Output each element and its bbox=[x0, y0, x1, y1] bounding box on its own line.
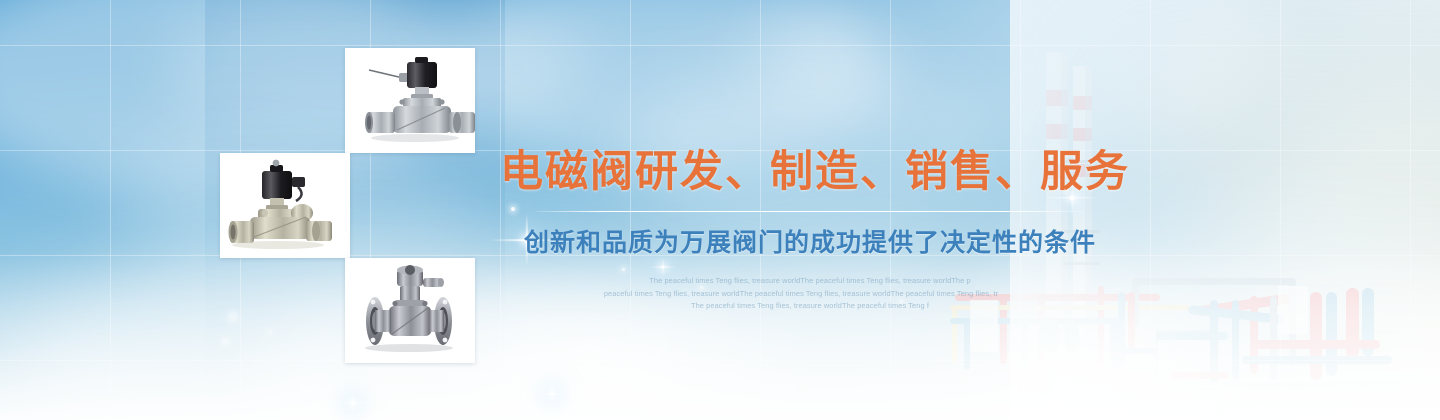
sparkle-dot bbox=[268, 330, 273, 335]
sparkle-dot bbox=[222, 338, 229, 345]
banner-headline: 电磁阀研发、制造、销售、服务 bbox=[500, 148, 1120, 198]
product-tile-1[interactable] bbox=[345, 48, 475, 153]
product-tile-3[interactable] bbox=[345, 258, 475, 363]
solenoid-valve-brass-body-photo bbox=[220, 153, 350, 258]
banner-subheadline: 创新和品质为万展阀门的成功提供了决定性的条件 bbox=[500, 223, 1120, 259]
sparkle-dot bbox=[228, 312, 238, 322]
banner-fineprint: The peaceful times Teng flies, treasure … bbox=[500, 275, 1120, 313]
solenoid-valve-threaded-black-coil-photo bbox=[345, 48, 475, 153]
hero-banner: 电磁阀研发、制造、销售、服务 创新和品质为万展阀门的成功提供了决定性的条件 Th… bbox=[0, 0, 1440, 420]
banner-text-block: 电磁阀研发、制造、销售、服务 创新和品质为万展阀门的成功提供了决定性的条件 Th… bbox=[500, 148, 1120, 313]
headline-divider bbox=[536, 211, 1084, 212]
valve-illustration-1 bbox=[345, 48, 475, 153]
fineprint-line-2: peaceful times Teng flies, treasure worl… bbox=[482, 287, 1120, 300]
fineprint-line-3: The peaceful times Teng flies, treasure … bbox=[500, 300, 1120, 313]
valve-illustration-3 bbox=[345, 258, 475, 363]
product-tile-2[interactable] bbox=[220, 153, 350, 258]
fineprint-line-1: The peaceful times Teng flies, treasure … bbox=[500, 275, 1120, 288]
solenoid-valve-flanged-photo bbox=[345, 258, 475, 363]
valve-illustration-2 bbox=[220, 153, 350, 258]
